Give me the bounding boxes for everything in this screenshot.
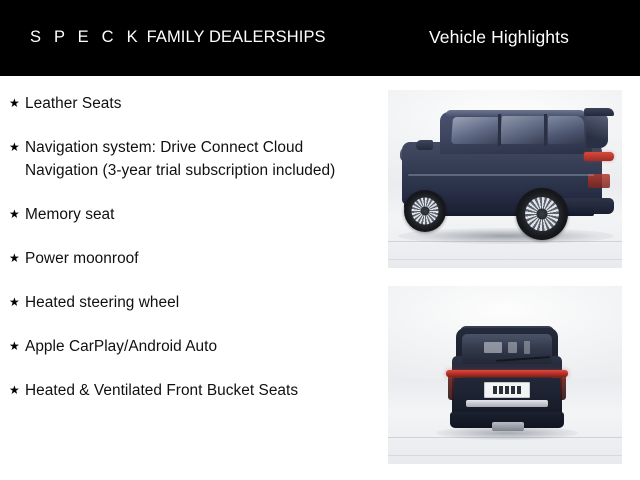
page-title: Vehicle Highlights [429,26,569,48]
glass-reflection [484,342,502,353]
glass-reflection [524,341,530,354]
glass-reflection [508,342,517,353]
list-item: ★ Heated steering wheel [0,291,380,314]
list-item: ★ Navigation system: Drive Connect Cloud… [0,136,380,182]
plate-character [499,386,503,394]
plate-character [505,386,509,394]
feature-label: Heated & Ventilated Front Bucket Seats [25,379,370,402]
suv-illustration-rear-three-quarter [388,90,622,268]
vehicle-rear-window [586,114,608,148]
vehicle-features-list: ★ Leather Seats ★ Navigation system: Dri… [0,76,380,480]
vehicle-rear-door-glass [500,116,545,144]
vehicle-photo-rear-three-quarter[interactable] [388,90,622,268]
vehicle-license-plate [484,382,530,398]
vehicle-front-wheel [404,190,446,232]
feature-label: Apple CarPlay/Android Auto [25,335,370,358]
vehicle-roof-spoiler [584,108,614,116]
vehicle-quarter-glass [548,116,584,144]
feature-label: Power moonroof [25,247,370,270]
list-item: ★ Memory seat [0,203,380,226]
star-icon: ★ [9,136,25,159]
vehicle-b-pillar [498,114,501,146]
feature-label: Memory seat [25,203,370,226]
vehicle-side-mirror [416,140,433,150]
wheel-hub [421,207,430,216]
list-item: ★ Leather Seats [0,92,380,115]
header-bar: S P E C K FAMILY DEALERSHIPS Vehicle Hig… [0,0,640,76]
vehicle-chrome-trim [466,400,548,407]
star-icon: ★ [9,335,25,358]
vehicle-taillight [584,152,614,161]
vehicle-lower-taillight [588,174,610,188]
dealership-brand-title: S P E C K FAMILY DEALERSHIPS [30,27,326,47]
vehicle-front-door-glass [451,117,499,144]
list-item: ★ Heated & Ventilated Front Bucket Seats [0,379,380,402]
feature-label: Navigation system: Drive Connect Cloud N… [25,136,370,182]
plate-character [493,386,497,394]
plate-character [511,386,515,394]
feature-label: Leather Seats [25,92,370,115]
star-icon: ★ [9,92,25,115]
star-icon: ★ [9,291,25,314]
vehicle-hitch-cover [492,422,524,431]
vehicle-photo-column [388,90,622,464]
vehicle-body-crease [408,174,594,176]
vehicle-photo-rear-straight[interactable] [388,286,622,464]
list-item: ★ Apple CarPlay/Android Auto [0,335,380,358]
star-icon: ★ [9,379,25,402]
vehicle-c-pillar [544,114,547,146]
list-item: ★ Power moonroof [0,247,380,270]
wheel-hub [537,209,548,220]
vehicle-taillight-bar [446,370,568,377]
plate-character [517,386,521,394]
vehicle-rear-wheel [516,188,568,240]
brand-initials: S P E C K [30,28,142,46]
star-icon: ★ [9,247,25,270]
star-icon: ★ [9,203,25,226]
brand-name-rest: FAMILY DEALERSHIPS [147,28,326,46]
suv-illustration-rear-straight [388,286,622,464]
feature-label: Heated steering wheel [25,291,370,314]
